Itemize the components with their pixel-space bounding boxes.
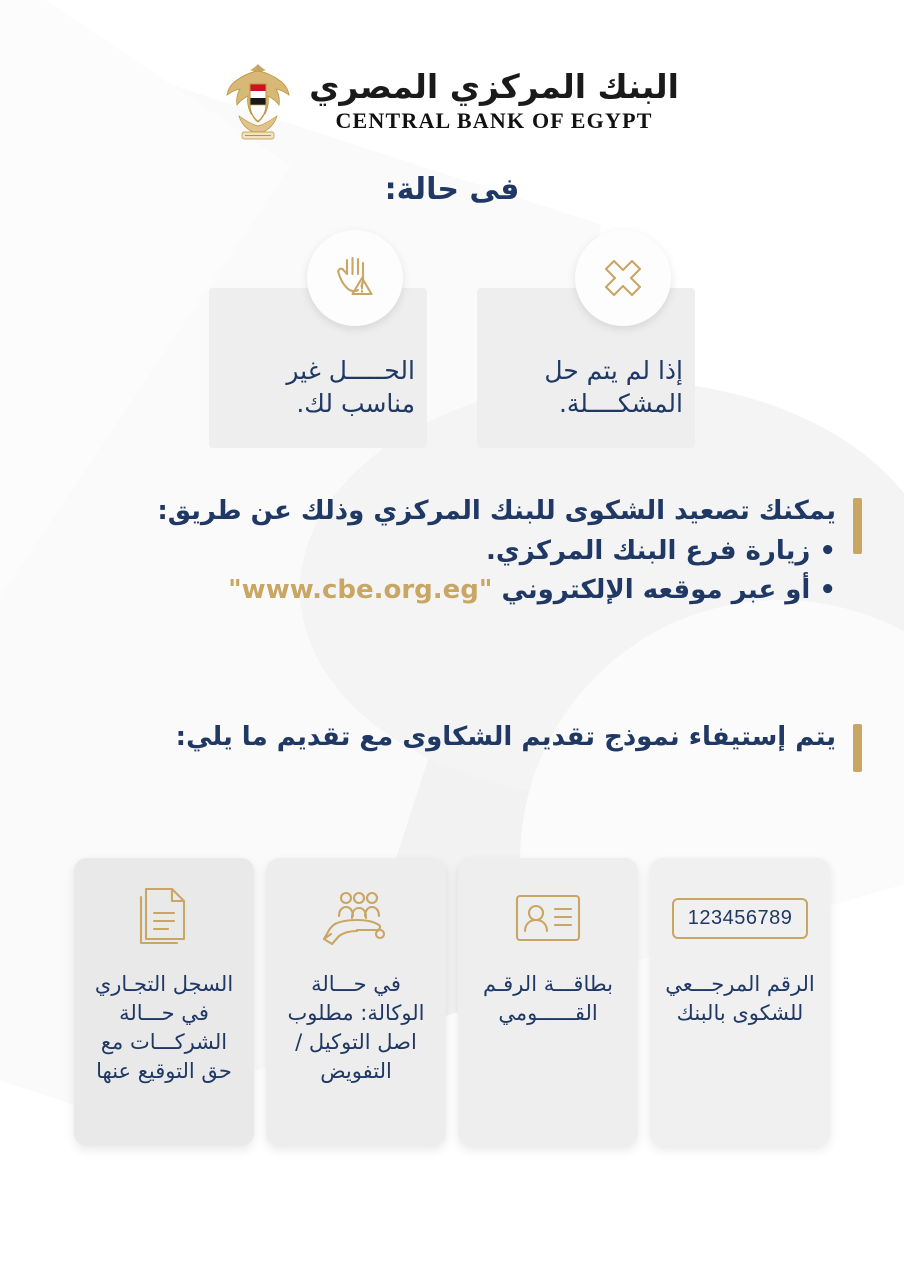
case-card-text: الحـــــل غير مناسب لك. (221, 354, 415, 420)
cbe-logo: البنك المركزي المصري CENTRAL BANK OF EGY… (0, 58, 904, 144)
requirement-card-text: في حـــالة الوكالة: مطلوب اصل التوكيل / … (278, 970, 434, 1086)
document-icon (132, 885, 196, 951)
people-in-hand-icon (319, 887, 393, 949)
id-card-icon (512, 889, 584, 947)
logo-arabic-name: البنك المركزي المصري (309, 70, 679, 103)
escalation-bullet-branch: • زيارة فرع البنك المركزي. (68, 532, 836, 572)
requirement-icon-slot (512, 880, 584, 956)
requirements-cards-row: 123456789 الرقم المرجـــعي للشكوى بالبنك… (74, 858, 830, 1146)
escalation-block: يمكنك تصعيد الشكوى للبنك المركزي وذلك عن… (68, 492, 836, 611)
case-card-icon-circle (307, 230, 403, 326)
requirement-card-national-id: بطاقـــة الرقـم القــــــومي (458, 858, 638, 1146)
case-card-icon-circle (575, 230, 671, 326)
case-section-title: فى حالة: (0, 172, 904, 207)
logo-wordmark: البنك المركزي المصري CENTRAL BANK OF EGY… (309, 70, 679, 132)
logo-english-name: CENTRAL BANK OF EGYPT (335, 110, 652, 132)
cbe-website-url[interactable]: "www.cbe.org.eg" (228, 575, 492, 605)
requirement-icon-slot (319, 880, 393, 956)
requirement-icon-slot (132, 880, 196, 956)
stop-hand-warning-icon (329, 252, 381, 304)
case-cards-row: إذا لم يتم حل المشكــــلة. الحـ (0, 258, 904, 448)
escalation-heading: يمكنك تصعيد الشكوى للبنك المركزي وذلك عن… (68, 492, 836, 532)
requirement-card-text: الرقم المرجـــعي للشكوى بالبنك (662, 970, 818, 1028)
requirement-card-power-of-attorney: في حـــالة الوكالة: مطلوب اصل التوكيل / … (266, 858, 446, 1146)
case-card-unsuitable-solution: الحـــــل غير مناسب لك. (209, 258, 427, 448)
requirement-card-text: السجل التجـاري في حـــالة الشركـــات مع … (86, 970, 242, 1086)
requirement-card-reference-number: 123456789 الرقم المرجـــعي للشكوى بالبنك (650, 858, 830, 1146)
gold-accent-bar (853, 724, 862, 772)
case-card-no-resolution: إذا لم يتم حل المشكــــلة. (477, 258, 695, 448)
escalation-bullet-website-label: • أو عبر موقعه الإلكتروني (502, 575, 836, 605)
escalation-bullet-website: • أو عبر موقعه الإلكتروني "www.cbe.org.e… (68, 571, 836, 611)
requirement-card-text: بطاقـــة الرقـم القــــــومي (470, 970, 626, 1028)
requirements-heading: يتم إستيفاء نموذج تقديم الشكاوى مع تقديم… (68, 718, 836, 758)
reference-number-badge: 123456789 (672, 898, 809, 939)
requirements-block: يتم إستيفاء نموذج تقديم الشكاوى مع تقديم… (68, 718, 836, 758)
x-cross-icon (598, 253, 648, 303)
gold-accent-bar (853, 498, 862, 554)
eagle-of-saladin-emblem (225, 58, 291, 144)
requirement-icon-slot: 123456789 (672, 880, 809, 956)
requirement-card-commercial-register: السجل التجـاري في حـــالة الشركـــات مع … (74, 858, 254, 1146)
infographic-page: البنك المركزي المصري CENTRAL BANK OF EGY… (0, 0, 904, 1280)
case-card-text: إذا لم يتم حل المشكــــلة. (489, 354, 683, 420)
